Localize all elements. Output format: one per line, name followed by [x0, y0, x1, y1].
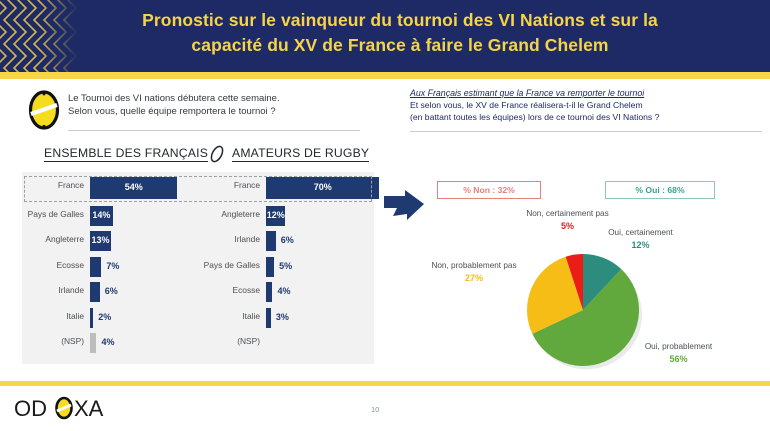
pie-label-nc-text: Non, certainement pas — [526, 209, 608, 218]
bar-value-label: 4% — [101, 337, 114, 347]
bar-row-label: (NSP) — [22, 336, 84, 346]
bar-row-label: Angleterre — [198, 209, 260, 219]
question-right-text: Aux Français estimant que la France va r… — [410, 88, 760, 123]
bar-fill — [266, 257, 274, 277]
question-block-right: Aux Français estimant que la France va r… — [410, 88, 760, 136]
bar-row-label: Ecosse — [198, 285, 260, 295]
slide-header: Pronostic sur le vainqueur du tournoi de… — [0, 0, 770, 72]
chevron-fade — [40, 0, 78, 72]
bar-row-label: Ecosse — [22, 260, 84, 270]
bar-row-label: Irlande — [22, 285, 84, 295]
bar-value-label: 14% — [90, 210, 113, 220]
bar-value-label: 2% — [98, 312, 111, 322]
pie-label-oui-certainement: Oui, certainement 12% — [588, 228, 693, 250]
pie-label-npp-pct: 27% — [424, 273, 524, 284]
svg-text:XA: XA — [74, 396, 104, 421]
bar-row: Ecosse7% — [22, 257, 198, 277]
section-title-left: ENSEMBLE DES FRANÇAIS — [44, 146, 208, 162]
bar-fill — [90, 333, 96, 353]
arrow-right-icon — [381, 190, 427, 230]
bar-value-label: 13% — [90, 235, 111, 245]
bar-fill — [90, 257, 101, 277]
france-highlight-box — [24, 176, 372, 202]
bar-fill — [90, 308, 93, 328]
question-left-line2: Selon vous, quelle équipe remportera le … — [68, 106, 358, 119]
page-number: 10 — [371, 405, 379, 414]
bar-value-label: 6% — [281, 235, 294, 245]
pie-label-non-probablement-pas: Non, probablement pas 27% — [424, 261, 524, 283]
question-right-line1: Aux Français estimant que la France va r… — [410, 88, 760, 100]
bar-row: Angleterre12% — [198, 206, 374, 226]
bar-row-label: Italie — [198, 311, 260, 321]
bar-fill — [266, 308, 271, 328]
footer-accent-band — [0, 381, 770, 386]
bar-row-label: (NSP) — [198, 336, 260, 346]
bar-row: (NSP) — [198, 333, 374, 353]
question-right-line3: (en battant toutes les équipes) lors de … — [410, 112, 659, 122]
pie-label-op-text: Oui, probablement — [645, 342, 712, 351]
bar-row: Irlande6% — [198, 231, 374, 251]
rugby-ball-outline-icon — [207, 145, 227, 163]
bar-value-label: 3% — [276, 312, 289, 322]
pie-label-npp-text: Non, probablement pas — [431, 261, 516, 270]
pie-label-oc-pct: 12% — [588, 240, 693, 251]
bar-row: Irlande6% — [22, 282, 198, 302]
pie-label-op-pct: 56% — [626, 354, 731, 365]
chevron-pattern-decoration — [0, 0, 78, 72]
bar-row: Ecosse4% — [198, 282, 374, 302]
page-title-line2: capacité du XV de France à faire le Gran… — [100, 33, 700, 58]
bar-value-label: 6% — [105, 286, 118, 296]
bar-row: Angleterre13% — [22, 231, 198, 251]
page-title: Pronostic sur le vainqueur du tournoi de… — [100, 8, 700, 58]
question-left-line1: Le Tournoi des VI nations débutera cette… — [68, 93, 358, 106]
question-right-divider — [410, 131, 762, 132]
question-left-text: Le Tournoi des VI nations débutera cette… — [68, 93, 358, 118]
bar-row-label: Italie — [22, 311, 84, 321]
bar-value-label: 5% — [279, 261, 292, 271]
bar-row-label: Angleterre — [22, 234, 84, 244]
odoxa-logo: OD XA — [14, 396, 134, 422]
status-badge-non: % Non : 32% — [437, 181, 541, 199]
bar-row-label: Irlande — [198, 234, 260, 244]
bar-fill — [90, 282, 100, 302]
bar-value-label: 12% — [266, 210, 285, 220]
bar-row: Italie2% — [22, 308, 198, 328]
bar-fill — [266, 282, 272, 302]
pie-label-oui-probablement: Oui, probablement 56% — [626, 342, 731, 364]
bar-row: (NSP)4% — [22, 333, 198, 353]
bar-row-label: Pays de Galles — [22, 209, 84, 219]
bar-row-label: Pays de Galles — [198, 260, 260, 270]
bar-fill — [266, 231, 276, 251]
section-title-right: AMATEURS DE RUGBY — [232, 146, 369, 162]
page-title-line1: Pronostic sur le vainqueur du tournoi de… — [100, 8, 700, 33]
question-left-divider — [68, 130, 360, 131]
bar-row: Pays de Galles5% — [198, 257, 374, 277]
bar-value-label: 7% — [106, 261, 119, 271]
status-badge-oui: % Oui : 68% — [605, 181, 715, 199]
svg-text:OD: OD — [14, 396, 47, 421]
question-right-line2: Et selon vous, le XV de France réalisera… — [410, 100, 643, 110]
bar-row: Italie3% — [198, 308, 374, 328]
header-accent-band — [0, 72, 770, 79]
pie-label-oc-text: Oui, certainement — [608, 228, 673, 237]
question-block-left: Le Tournoi des VI nations débutera cette… — [26, 90, 356, 136]
slide-root: Pronostic sur le vainqueur du tournoi de… — [0, 0, 770, 431]
rugby-ball-icon — [26, 90, 62, 130]
bar-row: Pays de Galles14% — [22, 206, 198, 226]
bar-value-label: 4% — [277, 286, 290, 296]
